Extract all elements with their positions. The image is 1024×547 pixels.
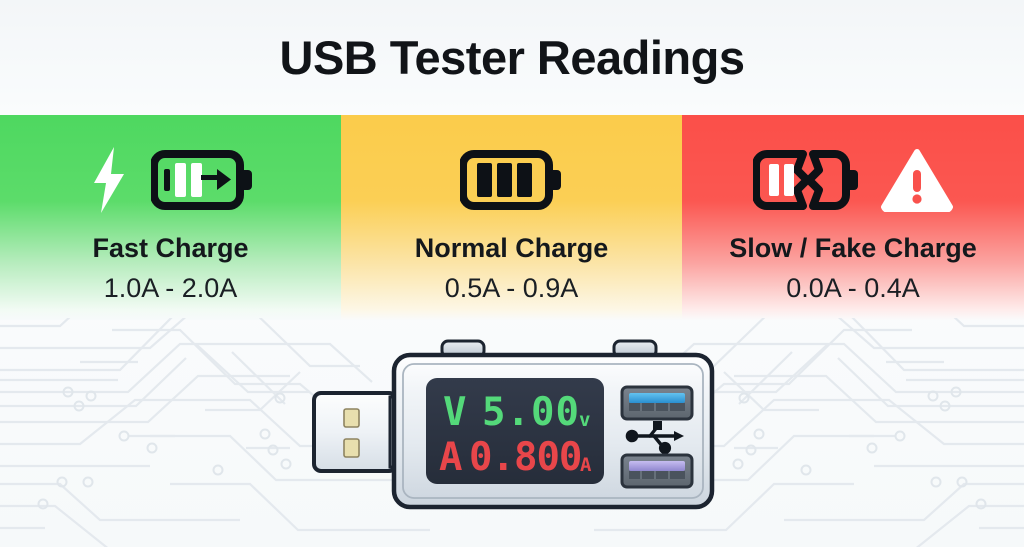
lightning-bolt-icon (87, 145, 131, 215)
battery-three-bars-icon (460, 149, 564, 211)
lcd-current-value: 0.800 (469, 435, 581, 480)
lcd-current-unit: A (580, 454, 592, 476)
band-slow-label: Slow / Fake Charge (682, 233, 1024, 264)
page-title: USB Tester Readings (280, 30, 745, 85)
band-slow-fake-charge: Slow / Fake Charge 0.0A - 0.4A (682, 115, 1024, 320)
band-normal-label: Normal Charge (341, 233, 682, 264)
poster-canvas: USB Tester Readings (0, 0, 1024, 547)
warning-triangle-icon (881, 148, 953, 212)
band-fast-label: Fast Charge (0, 233, 341, 264)
band-normal-range: 0.5A - 0.9A (341, 273, 682, 304)
usb-tester-device[interactable]: V 5.00 v A 0.800 A (302, 333, 722, 533)
band-fast-icons (0, 141, 341, 219)
band-slow-range: 0.0A - 0.4A (682, 273, 1024, 304)
lcd-voltage-value: 5.00 (482, 390, 580, 435)
usb-port-purple[interactable] (622, 455, 692, 487)
lcd-voltage-prefix: V (443, 390, 468, 435)
lcd-voltage-unit: v (579, 409, 590, 431)
usb-port-blue[interactable] (622, 387, 692, 419)
device-area: V 5.00 v A 0.800 A (0, 318, 1024, 547)
battery-broken-icon (753, 148, 861, 212)
device-lcd-screen: V 5.00 v A 0.800 A (426, 378, 604, 484)
header-area: USB Tester Readings (0, 0, 1024, 115)
band-normal-charge: Normal Charge 0.5A - 0.9A (341, 115, 682, 320)
band-normal-icons (341, 141, 682, 219)
band-fast-range: 1.0A - 2.0A (0, 273, 341, 304)
band-slow-icons (682, 141, 1024, 219)
lcd-current-prefix: A (439, 435, 463, 480)
battery-charging-icon (151, 149, 255, 211)
band-fast-charge: Fast Charge 1.0A - 2.0A (0, 115, 341, 320)
charge-category-bands: Fast Charge 1.0A - 2.0A Normal Charge 0.… (0, 115, 1024, 320)
